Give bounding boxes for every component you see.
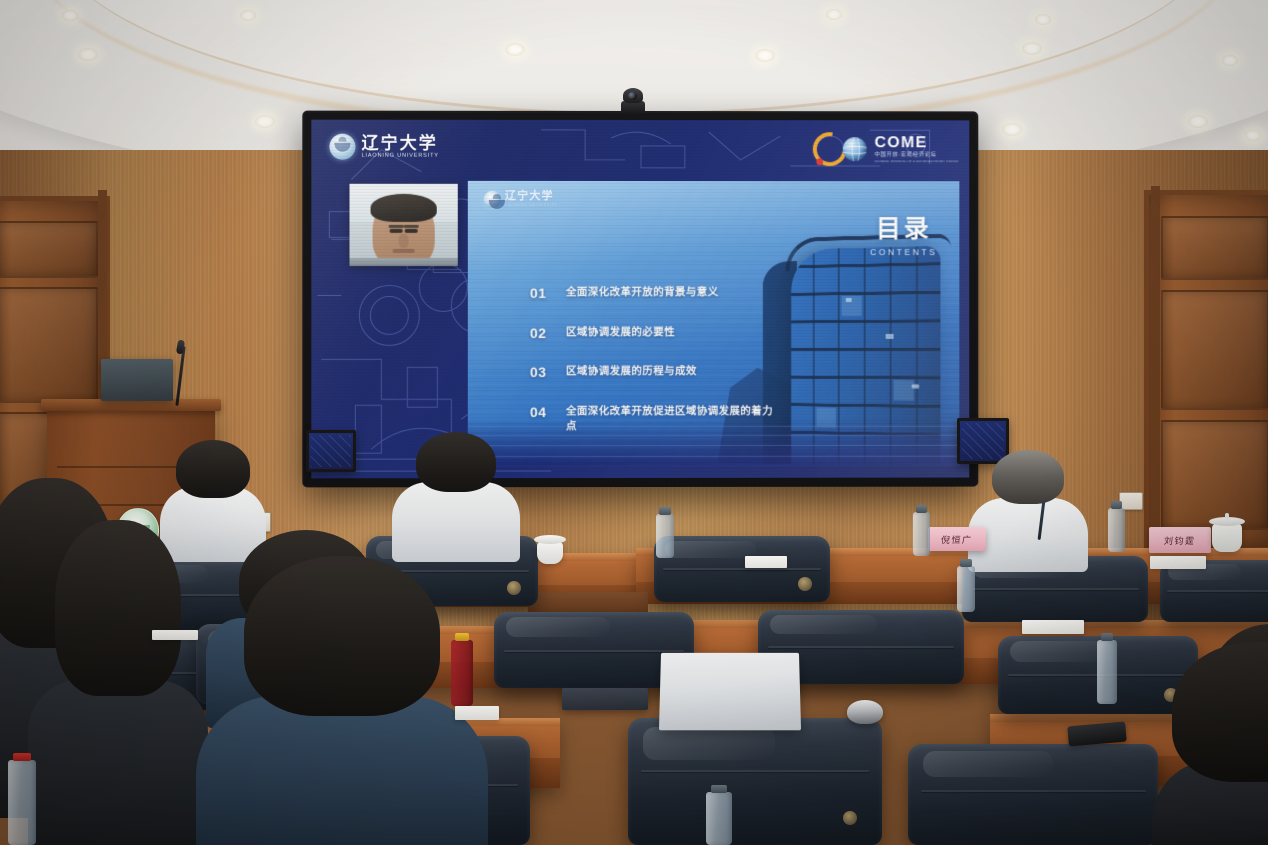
eye xyxy=(405,229,418,233)
handout-paper xyxy=(1150,556,1206,569)
window-glint xyxy=(886,334,894,339)
downlight xyxy=(62,10,78,21)
chair-seam xyxy=(641,770,870,772)
window-glint xyxy=(912,384,919,388)
contents-heading: 目录 CONTENTS xyxy=(870,217,937,257)
contents-title-en: CONTENTS xyxy=(870,247,937,257)
computer-mouse[interactable] xyxy=(847,700,883,724)
toc-number: 02 xyxy=(530,325,552,343)
toc-number: 01 xyxy=(530,285,552,303)
presentation-slide: 辽宁大学 LIAONING UNIVERSITY 目录 CONTENTS 01 … xyxy=(468,181,960,466)
remote-speaker-video-tile[interactable] xyxy=(349,184,457,266)
water-bottle xyxy=(957,566,975,612)
attendee-hair xyxy=(55,520,181,696)
display-surface: 辽宁大学 LIAONING UNIVERSITY COME 中国开放·宏观经济论… xyxy=(311,120,969,479)
right-wooden-door[interactable] xyxy=(1144,190,1268,552)
toc-number: 04 xyxy=(530,404,552,422)
come-forum-logo: COME 中国开放·宏观经济论坛 CHINESE OPENING-UP & MA… xyxy=(813,132,959,166)
contents-title-cn: 目录 xyxy=(870,217,937,242)
handout-paper xyxy=(152,630,198,640)
downlight xyxy=(1002,123,1022,136)
closed-notebook xyxy=(562,688,648,710)
nameplate-text: 倪恒广 xyxy=(941,533,974,546)
chair-emblem-icon xyxy=(798,577,812,591)
water-bottle xyxy=(706,792,732,845)
downlight xyxy=(826,9,842,20)
main-display[interactable]: 辽宁大学 LIAONING UNIVERSITY COME 中国开放·宏观经济论… xyxy=(304,113,976,486)
toc-number: 03 xyxy=(530,364,552,382)
forum-subtitle-cn: 中国开放·宏观经济论坛 xyxy=(874,154,958,159)
chair-seam xyxy=(1167,590,1268,592)
chair-emblem-icon xyxy=(843,811,857,825)
water-bottle xyxy=(1108,508,1125,552)
door-panel xyxy=(1161,290,1268,410)
mouth xyxy=(393,249,415,253)
bottle-cap xyxy=(13,753,31,761)
nameplate: 刘钧霆 xyxy=(1149,527,1211,553)
door-panel xyxy=(1161,216,1268,280)
downlight xyxy=(240,10,256,21)
camera-lens xyxy=(628,92,637,100)
door-panel xyxy=(0,221,98,278)
water-bottle xyxy=(1097,640,1117,704)
attendee-torso xyxy=(968,498,1088,572)
slide-logo-cn: 辽宁大学 xyxy=(505,191,558,202)
chair-highlight xyxy=(643,727,775,760)
slide-university-logo: 辽宁大学 LIAONING UNIVERSITY xyxy=(484,191,558,208)
chair-seam xyxy=(504,650,684,652)
ptz-camera-icon xyxy=(621,88,645,118)
university-crest-icon xyxy=(484,191,501,208)
lectern-monitor xyxy=(101,359,173,401)
chair-highlight xyxy=(506,617,610,637)
liaoning-university-logo: 辽宁大学 LIAONING UNIVERSITY xyxy=(329,134,438,160)
chair-emblem-icon xyxy=(507,581,521,595)
speaker-shirt xyxy=(349,258,457,266)
toc-item: 04 全面深化改革开放促进区域协调发展的着力点 xyxy=(530,403,820,434)
teacup-knob xyxy=(1225,513,1230,519)
conference-room-photo: 辽宁大学 LIAONING UNIVERSITY COME 中国开放·宏观经济论… xyxy=(0,0,1268,845)
chair[interactable] xyxy=(1160,560,1268,622)
eye xyxy=(389,229,402,233)
chair-highlight xyxy=(665,541,757,558)
handout-paper xyxy=(1022,620,1084,634)
slide-logo-en: LIAONING UNIVERSITY xyxy=(505,204,558,207)
nameplate-text: 刘钧霆 xyxy=(1164,534,1197,547)
nose xyxy=(399,234,409,248)
downlight xyxy=(1188,115,1208,128)
mesh-line xyxy=(468,445,960,446)
forum-subtitle-en: CHINESE OPENING-UP & MACROECONOMY FORUM xyxy=(874,160,958,163)
attendee xyxy=(968,450,1088,566)
lidded-teacup xyxy=(537,542,563,564)
chair-seam xyxy=(921,790,1146,792)
downlight xyxy=(255,115,275,128)
bottle-cap xyxy=(1101,633,1114,641)
attendee xyxy=(392,432,520,558)
table-of-contents: 01 全面深化改革开放的背景与意义 02 区域协调发展的必要性 03 区域协调发… xyxy=(530,285,820,434)
handout-paper xyxy=(455,706,499,720)
lidded-teacup xyxy=(1212,524,1242,552)
downlight xyxy=(78,48,98,61)
door-panel xyxy=(1161,420,1268,530)
downlight xyxy=(1035,14,1051,25)
attendee-foreground-right xyxy=(1152,642,1268,845)
globe-icon xyxy=(843,137,867,161)
toc-item: 01 全面深化改革开放的背景与意义 xyxy=(530,285,820,303)
bottle-cap xyxy=(960,559,972,567)
bottle-cap xyxy=(455,633,469,641)
open-laptop[interactable] xyxy=(660,652,800,730)
downlight xyxy=(755,49,775,62)
window-glint xyxy=(846,298,852,302)
downlight xyxy=(505,43,525,56)
attendee-hair xyxy=(416,432,496,492)
speaker-hair xyxy=(371,194,437,222)
chair[interactable] xyxy=(908,744,1158,845)
mesh-line xyxy=(468,456,960,457)
university-name-en: LIAONING UNIVERSITY xyxy=(362,153,439,159)
attendee-hair xyxy=(244,556,440,716)
eyebrow xyxy=(404,225,419,228)
lit-window xyxy=(894,380,914,400)
chair-highlight xyxy=(923,751,1053,777)
university-name-cn: 辽宁大学 xyxy=(362,134,439,151)
teacup-lid xyxy=(534,535,566,544)
toc-label: 全面深化改革开放的背景与意义 xyxy=(566,285,719,300)
forum-wordmark: COME xyxy=(874,136,958,152)
bottle-cap xyxy=(916,505,927,513)
bottle-cap xyxy=(1111,501,1122,509)
attendee-hair xyxy=(1172,642,1268,782)
chair-seam xyxy=(768,646,953,648)
chair[interactable] xyxy=(628,718,882,845)
chair[interactable] xyxy=(654,536,830,602)
attendee-hair xyxy=(176,440,250,498)
toc-item: 02 区域协调发展的必要性 xyxy=(530,324,820,342)
toc-item: 03 区域协调发展的历程与成效 xyxy=(530,364,820,382)
downlight xyxy=(1222,55,1238,66)
toc-label: 区域协调发展的历程与成效 xyxy=(566,364,697,379)
handout-paper xyxy=(745,556,787,568)
side-monitor-left xyxy=(306,430,356,472)
toc-label: 区域协调发展的必要性 xyxy=(566,324,675,339)
nameplate: 倪恒广 xyxy=(928,527,986,551)
drink-bottle xyxy=(451,640,473,706)
attendee-foreground xyxy=(28,520,208,845)
attendee-torso xyxy=(28,680,208,845)
chair-highlight xyxy=(770,615,877,634)
university-crest-icon xyxy=(329,134,355,160)
water-bottle xyxy=(656,514,674,558)
attendee-hair xyxy=(992,450,1064,504)
attendee-foreground xyxy=(196,556,488,845)
water-bottle xyxy=(8,760,36,845)
mesh-line xyxy=(468,435,960,436)
bottle-cap xyxy=(711,785,728,793)
door-panel xyxy=(0,287,98,403)
monitor-graphic xyxy=(311,435,351,467)
toc-label: 全面深化改革开放促进区域协调发展的着力点 xyxy=(566,403,781,434)
attendee-torso xyxy=(392,482,520,562)
water-bottle xyxy=(913,512,930,556)
chair-seam xyxy=(663,568,821,570)
attendee-torso xyxy=(196,696,488,845)
downlight xyxy=(1245,130,1261,141)
door-frame xyxy=(1151,186,1160,546)
laptop-lid xyxy=(659,653,801,730)
eyebrow xyxy=(389,225,404,228)
bottle-cap xyxy=(659,507,671,515)
downlight xyxy=(1022,42,1042,55)
chair-seam xyxy=(971,588,1138,590)
